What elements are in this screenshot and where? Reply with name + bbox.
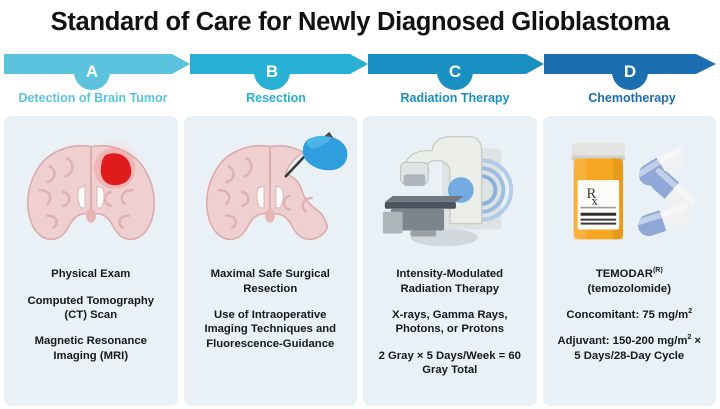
infographic-root: Standard of Care for Newly Diagnosed Gli… <box>0 0 720 409</box>
panel-resection-line-0: Maximal Safe SurgicalResection <box>208 267 333 296</box>
step-letter-b: B <box>266 62 278 82</box>
step-label-radiation: Radiation Therapy <box>366 91 544 105</box>
panel-chemotherapy-line-2: Adjuvant: 150-200 mg/m2 ×5 Days/28-Day C… <box>554 334 704 363</box>
step-marker-a: A <box>74 54 110 90</box>
arrow-track: A B C D <box>0 52 720 76</box>
panel-chemotherapy: R x <box>543 116 717 406</box>
step-letter-c: C <box>449 62 461 82</box>
step-letter-d: D <box>624 62 636 82</box>
step-marker-d: D <box>612 54 648 90</box>
svg-text:x: x <box>592 194 599 208</box>
step-letter-a: A <box>86 62 98 82</box>
panel-resection-text: Maximal Safe SurgicalResection Use of In… <box>189 261 353 400</box>
panel-resection-line-1: Use of IntraoperativeImaging Techniques … <box>201 308 339 351</box>
panel-chemotherapy-line-0: TEMODAR(R)(temozolomide) <box>585 267 674 296</box>
brain-with-scalpel-icon <box>189 123 353 261</box>
panel-radiation-line-2: 2 Gray × 5 Days/Week = 60Gray Total <box>376 349 524 378</box>
step-label-chemotherapy: Chemotherapy <box>544 91 720 105</box>
step-label-row: Detection of Brain Tumor Resection Radia… <box>0 91 720 111</box>
step-marker-c: C <box>437 54 473 90</box>
panel-detection-line-0: Physical Exam <box>48 267 133 281</box>
panel-detection-line-2: Magnetic ResonanceImaging (MRI) <box>32 334 150 363</box>
panel-radiation-line-0: Intensity-ModulatedRadiation Therapy <box>393 267 506 296</box>
panel-radiation: Intensity-ModulatedRadiation Therapy X-r… <box>363 116 537 406</box>
panel-chemotherapy-line-1: Concomitant: 75 mg/m2 <box>563 308 695 322</box>
panel-resection: Maximal Safe SurgicalResection Use of In… <box>184 116 358 406</box>
step-label-resection: Resection <box>186 91 366 105</box>
panel-detection-line-1: Computed Tomography(CT) Scan <box>24 294 157 323</box>
process-arrow-bar: A B C D <box>0 44 720 90</box>
step-label-detection: Detection of Brain Tumor <box>0 91 186 105</box>
linear-accelerator-icon <box>368 123 532 261</box>
step-marker-b: B <box>254 54 290 90</box>
panel-detection: Physical Exam Computed Tomography(CT) Sc… <box>4 116 178 406</box>
page-title: Standard of Care for Newly Diagnosed Gli… <box>0 0 720 36</box>
panel-detection-text: Physical Exam Computed Tomography(CT) Sc… <box>9 261 173 400</box>
panel-row: Physical Exam Computed Tomography(CT) Sc… <box>0 116 720 406</box>
panel-chemotherapy-text: TEMODAR(R)(temozolomide) Concomitant: 75… <box>548 261 712 400</box>
pill-bottle-and-capsules-icon: R x <box>548 123 712 261</box>
panel-radiation-line-1: X-rays, Gamma Rays,Photons, or Protons <box>389 308 511 337</box>
brain-with-tumor-icon <box>9 123 173 261</box>
panel-radiation-text: Intensity-ModulatedRadiation Therapy X-r… <box>368 261 532 400</box>
